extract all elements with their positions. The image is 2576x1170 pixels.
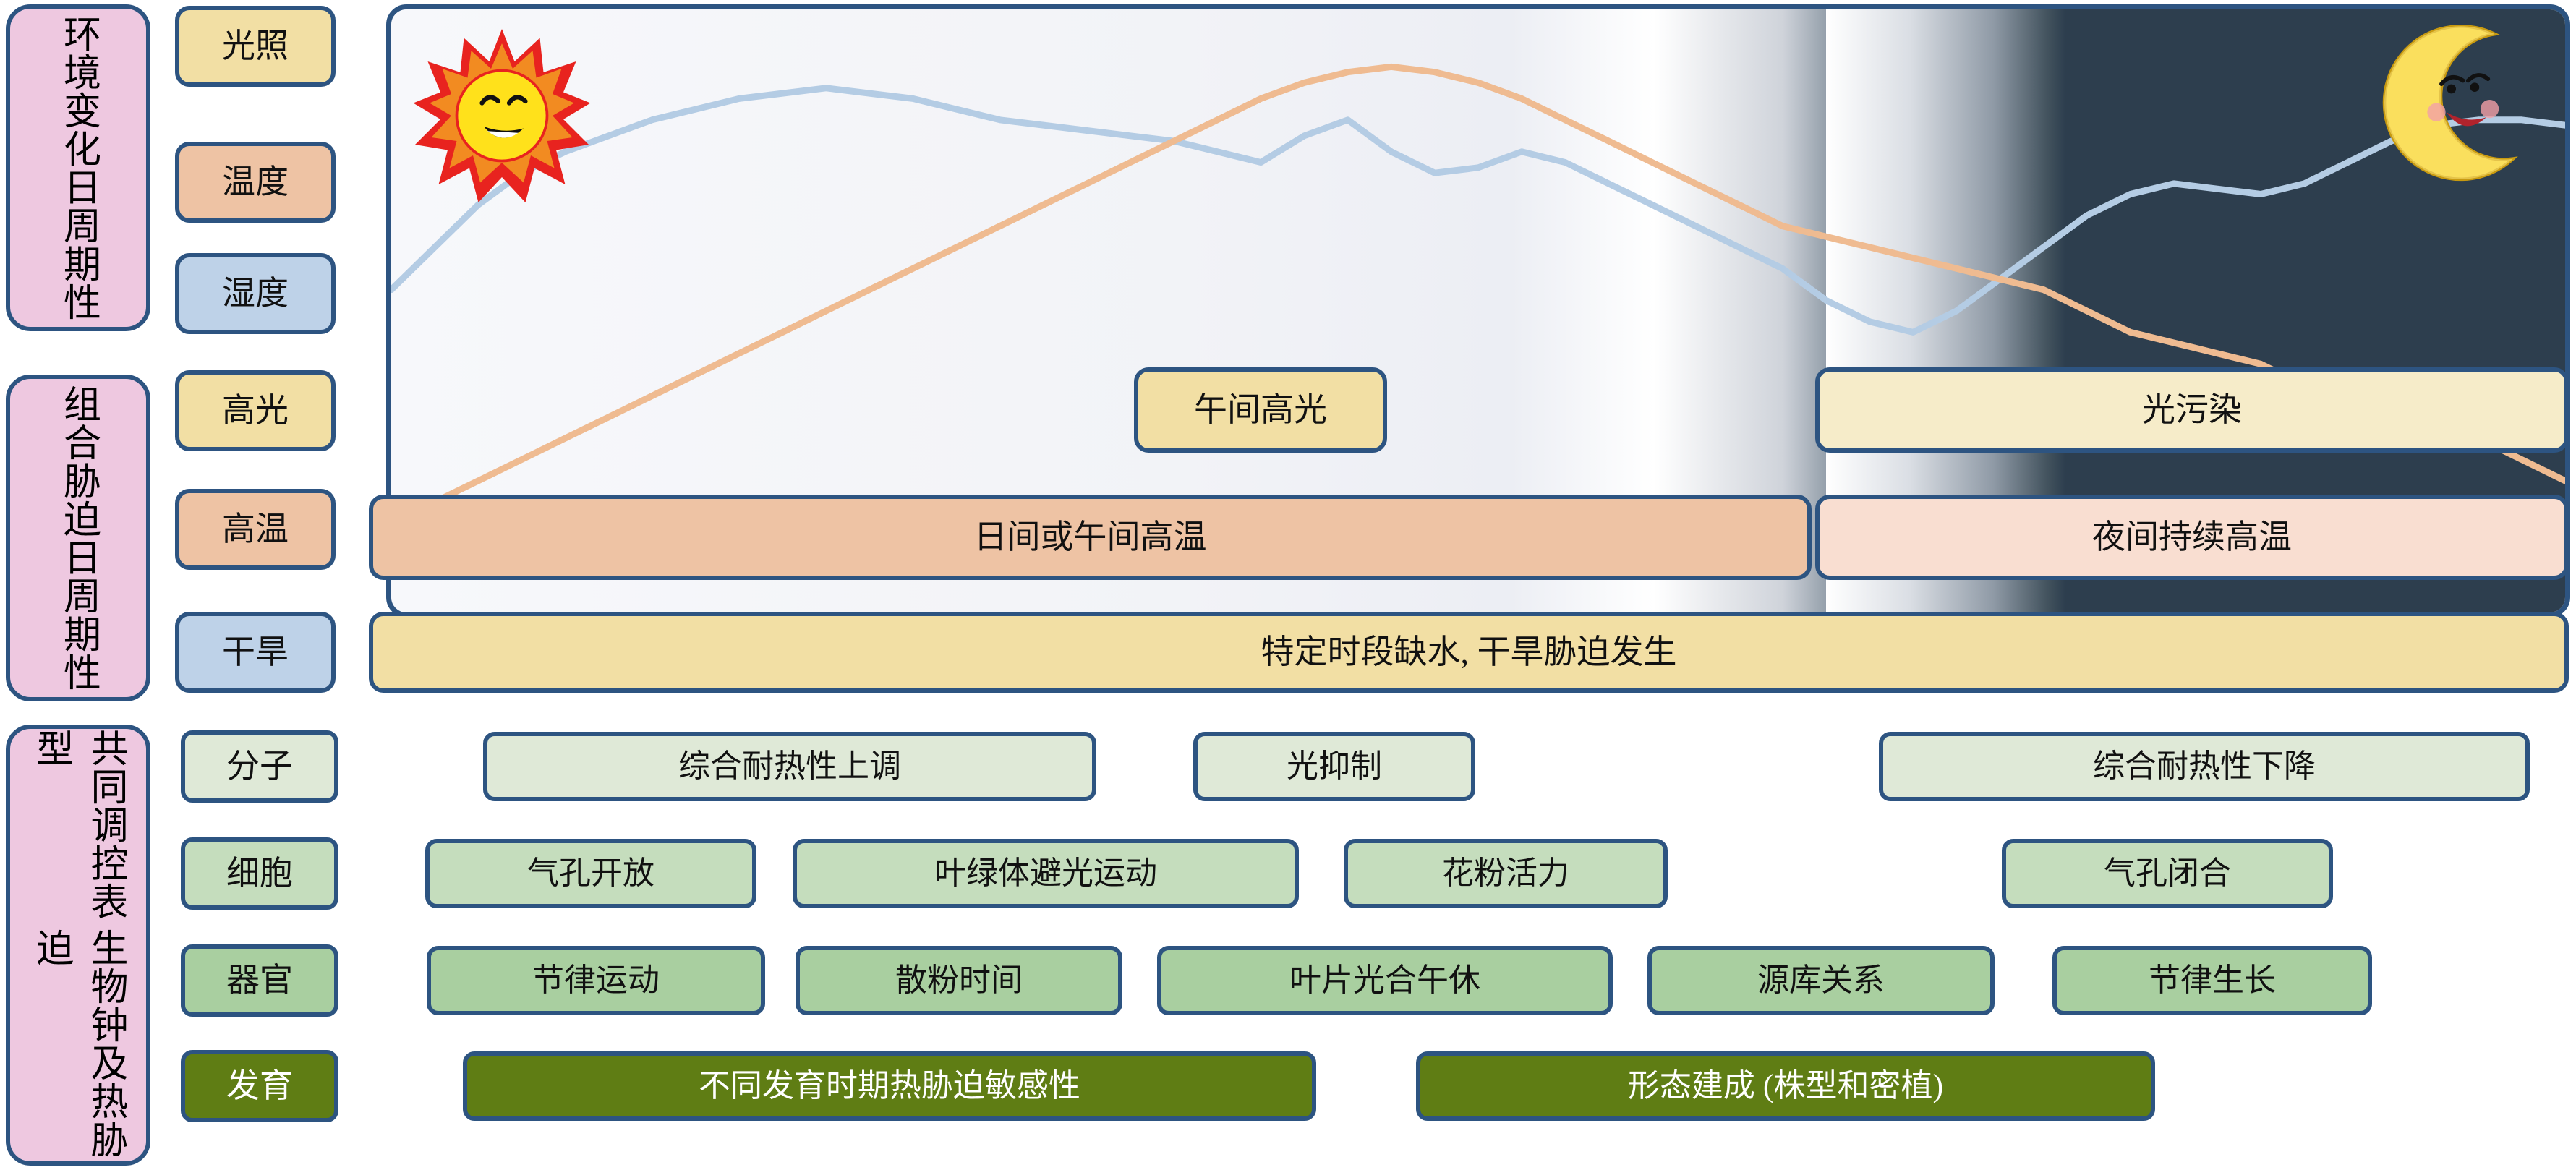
- row-label-development-text: 发育: [226, 1069, 293, 1103]
- phenotype-organ-item-1-text: 节律运动: [532, 964, 660, 997]
- phenotype-development-item-1: 不同发育时期热胁迫敏感性: [463, 1051, 1316, 1121]
- phenotype-molecular-item-1: 综合耐热性上调: [483, 732, 1096, 801]
- phenotype-organ-item-3-text: 叶片光合午休: [1289, 964, 1480, 997]
- stress-bar-light-pollution-text: 光污染: [2142, 393, 2242, 427]
- row-label-organ-text: 器官: [226, 963, 293, 998]
- row-label-humidity: 湿度: [175, 253, 336, 334]
- phenotype-molecular-item-3-text: 综合耐热性下降: [2093, 750, 2316, 783]
- phenotype-organ-item-4-text: 源库关系: [1757, 964, 1885, 997]
- group-label-combined-line2: 日周期性: [51, 538, 106, 691]
- phenotype-organ-item-5: 节律生长: [2052, 946, 2372, 1015]
- phenotype-organ-item-5-text: 节律生长: [2149, 964, 2276, 997]
- row-label-development: 发育: [181, 1050, 338, 1122]
- row-label-molecular-text: 分子: [226, 749, 293, 784]
- phenotype-cellular-item-1-text: 气孔开放: [527, 857, 654, 890]
- phenotype-cellular-item-2: 叶绿体避光运动: [793, 839, 1299, 908]
- row-label-light: 光照: [175, 6, 336, 87]
- stress-bar-drought: 特定时段缺水, 干旱胁迫发生: [369, 612, 2569, 693]
- curve-humidity: [391, 88, 2565, 333]
- row-label-organ: 器官: [181, 944, 338, 1017]
- phenotype-molecular-item-2: 光抑制: [1193, 732, 1475, 801]
- row-label-cellular-text: 细胞: [226, 856, 293, 891]
- stress-bar-midday-high-light-text: 午间高光: [1194, 393, 1327, 427]
- row-label-temperature: 温度: [175, 142, 336, 223]
- group-label-phenotype-line2: 生物钟及热胁迫: [24, 928, 132, 1161]
- row-label-high-light: 高光: [175, 370, 336, 451]
- phenotype-organ-item-2: 散粉时间: [796, 946, 1122, 1015]
- row-label-humidity-text: 湿度: [222, 276, 289, 311]
- stress-bar-drought-text: 特定时段缺水, 干旱胁迫发生: [1261, 635, 1677, 670]
- row-label-molecular: 分子: [181, 730, 338, 803]
- stress-bar-midday-high-light: 午间高光: [1134, 367, 1387, 453]
- phenotype-development-item-2: 形态建成 (株型和密植): [1416, 1051, 2155, 1121]
- phenotype-organ-item-3: 叶片光合午休: [1157, 946, 1613, 1015]
- row-label-temperature-text: 温度: [222, 165, 289, 200]
- row-label-drought-text: 干旱: [222, 635, 289, 670]
- sun-icon: [411, 25, 592, 206]
- group-label-phenotype-line1: 共同调控表型: [24, 729, 132, 928]
- row-label-high-light-text: 高光: [222, 393, 289, 428]
- phenotype-molecular-item-2-text: 光抑制: [1287, 750, 1382, 783]
- phenotype-molecular-item-3: 综合耐热性下降: [1879, 732, 2530, 801]
- row-label-high-temp-text: 高温: [222, 512, 289, 547]
- row-label-high-temp: 高温: [175, 489, 336, 570]
- phenotype-cellular-item-1: 气孔开放: [425, 839, 756, 908]
- phenotype-cellular-item-3-text: 花粉活力: [1442, 857, 1569, 890]
- row-label-light-text: 光照: [222, 29, 289, 64]
- stress-bar-daytime-high-temp-text: 日间或午间高温: [974, 520, 1207, 555]
- curve-temperature: [391, 67, 2565, 523]
- stress-bar-night-high-temp: 夜间持续高温: [1815, 495, 2569, 580]
- stress-bar-night-high-temp-text: 夜间持续高温: [2092, 520, 2292, 555]
- group-label-environment-line1: 环境变化: [51, 14, 106, 168]
- moon-icon: [2370, 22, 2536, 189]
- phenotype-development-item-2-text: 形态建成 (株型和密植): [1628, 1069, 1943, 1103]
- phenotype-cellular-item-4-text: 气孔闭合: [2104, 857, 2231, 890]
- phenotype-organ-item-2-text: 散粉时间: [895, 964, 1023, 997]
- phenotype-development-item-1-text: 不同发育时期热胁迫敏感性: [699, 1069, 1080, 1103]
- group-label-combined-line1: 组合胁迫: [51, 385, 106, 538]
- stress-bar-daytime-high-temp: 日间或午间高温: [369, 495, 1812, 580]
- phenotype-organ-item-1: 节律运动: [427, 946, 765, 1015]
- row-label-drought: 干旱: [175, 612, 336, 693]
- group-label-environment-line2: 日周期性: [51, 168, 106, 321]
- group-capsule-environment: 环境变化 日周期性: [6, 4, 150, 331]
- phenotype-cellular-item-4: 气孔闭合: [2002, 839, 2333, 908]
- phenotype-cellular-item-3: 花粉活力: [1344, 839, 1668, 908]
- group-capsule-phenotype: 共同调控表型 生物钟及热胁迫: [6, 725, 150, 1166]
- stress-bar-light-pollution: 光污染: [1815, 367, 2569, 453]
- group-capsule-combined-stress: 组合胁迫 日周期性: [6, 375, 150, 701]
- phenotype-cellular-item-2-text: 叶绿体避光运动: [934, 857, 1157, 890]
- phenotype-molecular-item-1-text: 综合耐热性上调: [678, 750, 901, 783]
- phenotype-organ-item-4: 源库关系: [1647, 946, 1995, 1015]
- row-label-cellular: 细胞: [181, 837, 338, 910]
